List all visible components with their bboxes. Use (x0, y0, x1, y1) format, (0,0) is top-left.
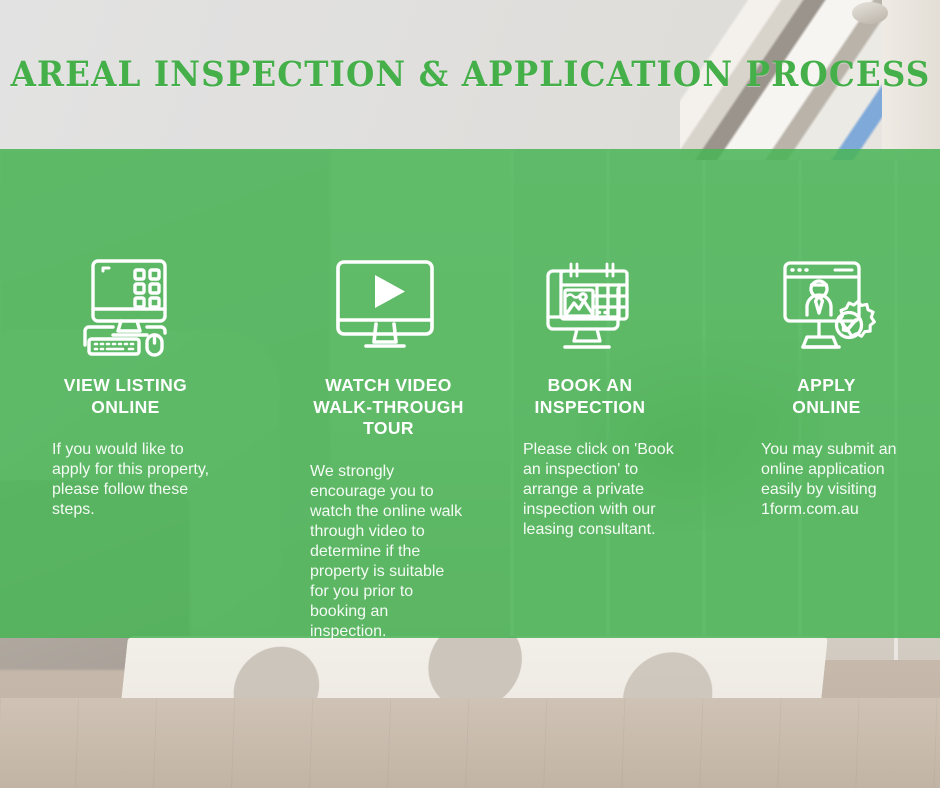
monitor-profile-gear-check-icon (761, 257, 900, 357)
step-heading: APPLY ONLINE (761, 375, 900, 418)
step-column-view-listing: VIEW LISTING ONLINE If you would like to… (0, 149, 255, 638)
step-column-apply-online: APPLY ONLINE You may submit an online ap… (705, 149, 940, 638)
step-body: You may submit an online application eas… (761, 440, 900, 520)
step-column-book-inspection: BOOK AN INSPECTION Please click on 'Book… (477, 149, 705, 638)
step-body: Please click on 'Book an inspection' to … (523, 440, 675, 540)
monitor-calendar-booking-icon (523, 257, 675, 357)
step-heading: BOOK AN INSPECTION (523, 375, 675, 418)
step-heading: WATCH VIDEO WALK-THROUGH TOUR (310, 375, 467, 440)
poster: Areal Inspection & Application Process (0, 0, 940, 788)
step-body: We strongly encourage you to watch the o… (310, 462, 467, 642)
page-title: Areal Inspection & Application Process (10, 54, 930, 95)
step-body: If you would like to apply for this prop… (52, 440, 217, 520)
header: Areal Inspection & Application Process (0, 0, 940, 149)
footer: Melbourne &R PropertyManagers &Real (0, 638, 940, 788)
steps-row: VIEW LISTING ONLINE If you would like to… (0, 149, 940, 638)
monitor-video-play-icon (310, 257, 467, 357)
step-heading: VIEW LISTING ONLINE (52, 375, 217, 418)
step-column-watch-video: WATCH VIDEO WALK-THROUGH TOUR We strongl… (255, 149, 477, 638)
desktop-monitor-listing-icon (52, 257, 217, 357)
